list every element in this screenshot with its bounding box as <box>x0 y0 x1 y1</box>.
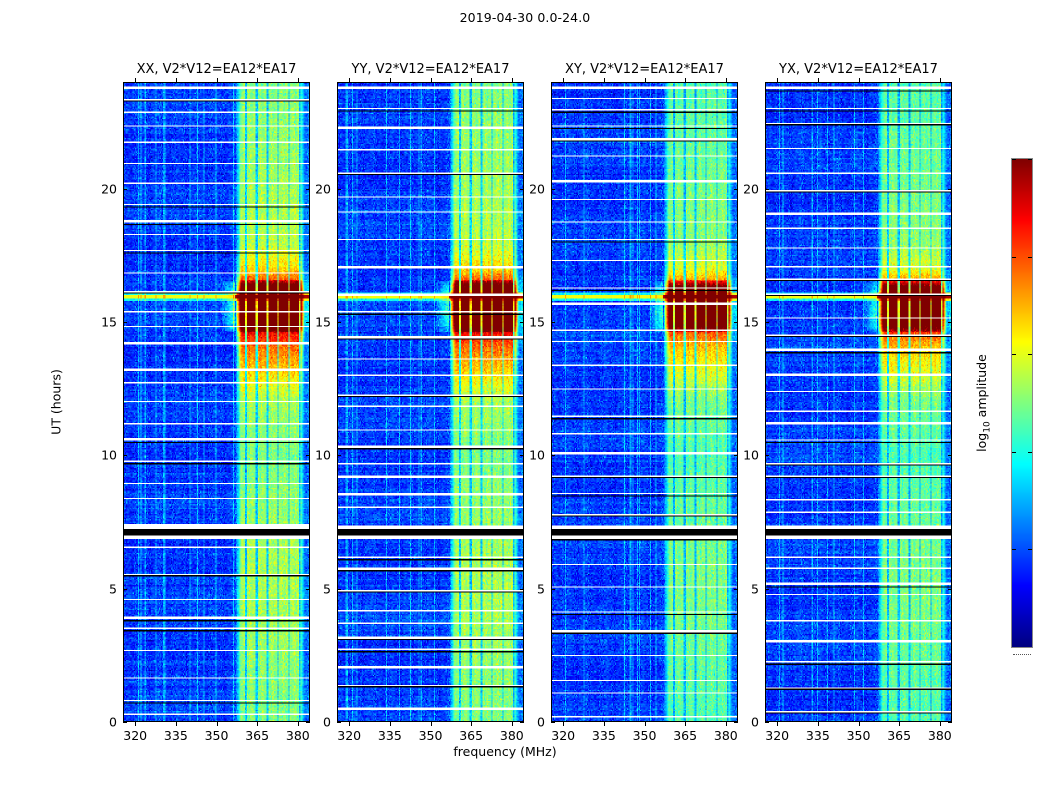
x-tick-mark-top <box>940 78 941 82</box>
y-tick-label: 15 <box>315 315 331 330</box>
x-tick-label: 320 <box>765 728 789 743</box>
x-tick-mark <box>940 722 941 726</box>
x-tick-mark <box>777 722 778 726</box>
x-tick-mark <box>298 722 299 726</box>
x-tick-mark-top <box>257 78 258 82</box>
y-tick-mark <box>123 722 127 723</box>
colorbar-tick-mark-left <box>1012 549 1016 550</box>
figure-canvas: 2019-04-30 0.0-24.0 XX, V2*V12=EA12*EA17… <box>0 0 1050 800</box>
x-tick-mark-top <box>899 78 900 82</box>
colorbar-under-rule <box>1013 653 1031 655</box>
y-tick-mark <box>337 455 341 456</box>
x-tick-label: 320 <box>551 728 575 743</box>
y-tick-mark-right <box>948 189 952 190</box>
x-tick-mark <box>859 722 860 726</box>
x-tick-label: 335 <box>592 728 616 743</box>
colorbar-label-sub: 10 <box>982 421 992 432</box>
x-tick-mark-top <box>604 78 605 82</box>
y-tick-mark-right <box>734 589 738 590</box>
panel-xx[interactable]: XX, V2*V12=EA12*EA17 3203353503653800510… <box>123 82 310 722</box>
x-tick-mark <box>563 722 564 726</box>
colorbar-label: log10 amplitude <box>974 354 993 452</box>
y-tick-mark <box>765 589 769 590</box>
colorbar-label-main: log <box>974 433 989 452</box>
x-tick-mark-top <box>349 78 350 82</box>
colorbar-label-tail: amplitude <box>974 354 989 421</box>
x-tick-mark-top <box>217 78 218 82</box>
y-tick-mark-right <box>520 322 524 323</box>
y-tick-mark <box>551 322 555 323</box>
x-tick-label: 335 <box>164 728 188 743</box>
x-tick-label: 335 <box>378 728 402 743</box>
waterfall-image-xx[interactable] <box>123 82 310 722</box>
x-tick-mark <box>512 722 513 726</box>
y-tick-mark-right <box>520 455 524 456</box>
colorbar-tick-mark <box>1028 549 1032 550</box>
panel-yy[interactable]: YY, V2*V12=EA12*EA17 3203353503653800510… <box>337 82 524 722</box>
x-tick-mark <box>645 722 646 726</box>
panel-yx[interactable]: YX, V2*V12=EA12*EA17 3203353503653800510… <box>765 82 952 722</box>
waterfall-image-yy[interactable] <box>337 82 524 722</box>
colorbar-tick-mark <box>1028 159 1032 160</box>
x-tick-label: 365 <box>245 728 269 743</box>
y-tick-mark-right <box>948 322 952 323</box>
colorbar-tick-mark <box>1028 647 1032 648</box>
x-tick-mark-top <box>431 78 432 82</box>
colorbar-tick-mark-left <box>1012 159 1016 160</box>
x-tick-mark-top <box>563 78 564 82</box>
panel-xy[interactable]: XY, V2*V12=EA12*EA17 3203353503653800510… <box>551 82 738 722</box>
y-tick-mark-right <box>948 722 952 723</box>
colorbar-tick-mark <box>1028 452 1032 453</box>
y-tick-mark <box>337 189 341 190</box>
x-tick-label: 350 <box>633 728 657 743</box>
x-tick-label: 365 <box>459 728 483 743</box>
y-tick-label: 0 <box>751 715 759 730</box>
x-tick-mark-top <box>512 78 513 82</box>
y-tick-mark-right <box>520 189 524 190</box>
y-tick-mark <box>337 589 341 590</box>
y-tick-label: 5 <box>109 581 117 596</box>
x-tick-mark-top <box>135 78 136 82</box>
colorbar[interactable]: −4−3−2−101 <box>1011 158 1033 648</box>
y-tick-mark-right <box>734 455 738 456</box>
figure-suptitle: 2019-04-30 0.0-24.0 <box>0 10 1050 25</box>
y-tick-mark-right <box>734 322 738 323</box>
y-tick-mark <box>551 589 555 590</box>
colorbar-canvas <box>1012 159 1032 647</box>
y-tick-label: 0 <box>109 715 117 730</box>
y-tick-mark <box>123 189 127 190</box>
x-tick-label: 365 <box>887 728 911 743</box>
x-tick-mark <box>818 722 819 726</box>
x-tick-label: 320 <box>123 728 147 743</box>
x-tick-label: 365 <box>673 728 697 743</box>
x-tick-label: 380 <box>500 728 524 743</box>
x-tick-mark-top <box>859 78 860 82</box>
y-tick-label: 0 <box>537 715 545 730</box>
colorbar-tick-mark <box>1028 257 1032 258</box>
x-axis-label: frequency (MHz) <box>0 744 1010 759</box>
y-tick-mark <box>551 722 555 723</box>
x-tick-label: 350 <box>419 728 443 743</box>
y-tick-label: 10 <box>315 448 331 463</box>
waterfall-image-xy[interactable] <box>551 82 738 722</box>
y-tick-label: 15 <box>529 315 545 330</box>
y-tick-mark <box>123 455 127 456</box>
y-tick-mark-right <box>520 722 524 723</box>
x-tick-mark <box>604 722 605 726</box>
x-tick-mark-top <box>685 78 686 82</box>
waterfall-canvas-xx <box>124 83 309 721</box>
x-tick-mark <box>726 722 727 726</box>
y-tick-label: 5 <box>537 581 545 596</box>
x-tick-mark <box>257 722 258 726</box>
x-tick-label: 350 <box>847 728 871 743</box>
y-tick-label: 20 <box>315 181 331 196</box>
y-tick-mark <box>123 322 127 323</box>
x-tick-mark-top <box>777 78 778 82</box>
y-tick-label: 20 <box>529 181 545 196</box>
x-tick-mark-top <box>818 78 819 82</box>
y-tick-mark <box>765 455 769 456</box>
colorbar-tick-mark-left <box>1012 647 1016 648</box>
y-tick-mark-right <box>306 455 310 456</box>
y-tick-label: 5 <box>323 581 331 596</box>
y-tick-mark <box>123 589 127 590</box>
colorbar-tick-mark-left <box>1012 257 1016 258</box>
colorbar-tick-mark-left <box>1012 452 1016 453</box>
y-tick-mark <box>337 322 341 323</box>
x-tick-mark-top <box>176 78 177 82</box>
x-tick-label: 380 <box>714 728 738 743</box>
x-tick-mark <box>349 722 350 726</box>
colorbar-tick-mark-left <box>1012 354 1016 355</box>
x-tick-mark-top <box>471 78 472 82</box>
x-tick-label: 380 <box>928 728 952 743</box>
x-tick-label: 335 <box>806 728 830 743</box>
y-tick-mark-right <box>306 589 310 590</box>
y-tick-mark-right <box>948 589 952 590</box>
x-tick-mark <box>471 722 472 726</box>
y-tick-label: 15 <box>743 315 759 330</box>
y-tick-label: 10 <box>743 448 759 463</box>
y-tick-label: 15 <box>101 315 117 330</box>
y-tick-label: 10 <box>101 448 117 463</box>
x-tick-mark <box>135 722 136 726</box>
colorbar-tick-mark <box>1028 354 1032 355</box>
x-tick-mark-top <box>390 78 391 82</box>
y-tick-label: 5 <box>751 581 759 596</box>
y-tick-mark <box>551 455 555 456</box>
x-tick-mark <box>176 722 177 726</box>
x-tick-label: 320 <box>337 728 361 743</box>
y-tick-mark-right <box>734 722 738 723</box>
y-tick-mark <box>765 322 769 323</box>
x-tick-mark <box>899 722 900 726</box>
x-tick-mark <box>217 722 218 726</box>
y-tick-mark <box>337 722 341 723</box>
y-tick-mark-right <box>306 189 310 190</box>
y-tick-mark <box>551 189 555 190</box>
y-axis-label: UT (hours) <box>49 369 64 435</box>
waterfall-image-yx[interactable] <box>765 82 952 722</box>
x-tick-mark-top <box>645 78 646 82</box>
y-tick-label: 0 <box>323 715 331 730</box>
y-tick-mark-right <box>948 455 952 456</box>
x-tick-label: 350 <box>205 728 229 743</box>
waterfall-canvas-xy <box>552 83 737 721</box>
y-tick-mark-right <box>306 322 310 323</box>
y-tick-label: 20 <box>743 181 759 196</box>
x-tick-mark <box>390 722 391 726</box>
y-tick-mark-right <box>520 589 524 590</box>
x-tick-mark <box>431 722 432 726</box>
y-tick-mark-right <box>306 722 310 723</box>
x-tick-label: 380 <box>286 728 310 743</box>
y-tick-label: 20 <box>101 181 117 196</box>
x-tick-mark <box>685 722 686 726</box>
y-tick-label: 10 <box>529 448 545 463</box>
y-tick-mark <box>765 189 769 190</box>
waterfall-canvas-yx <box>766 83 951 721</box>
waterfall-canvas-yy <box>338 83 523 721</box>
y-tick-mark-right <box>734 189 738 190</box>
y-tick-mark <box>765 722 769 723</box>
x-tick-mark-top <box>726 78 727 82</box>
x-tick-mark-top <box>298 78 299 82</box>
